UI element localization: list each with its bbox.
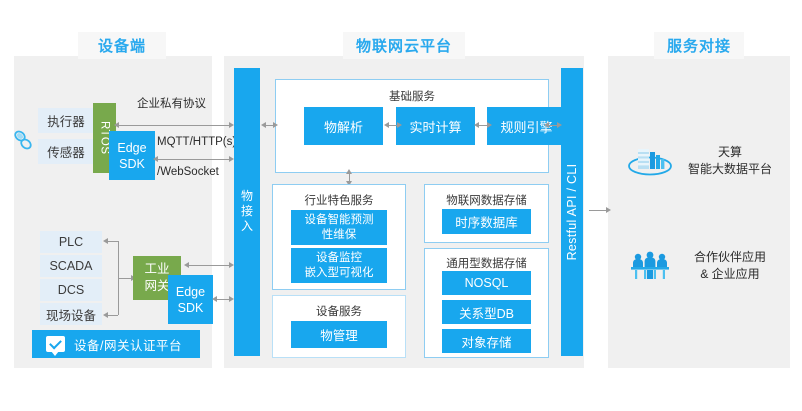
architecture-diagram: 设备端 物联网云平台 服务对接 执行器 传感器 RTOS Edge SDK 企业…	[0, 0, 802, 411]
check-bubble-icon	[46, 336, 65, 352]
gateway-label-line2: 网关	[144, 278, 169, 295]
arrow-head-connector-up	[346, 169, 352, 174]
arrow-head-private-left	[114, 122, 119, 128]
basic-service-item-realtime-compute[interactable]: 实时计算	[396, 107, 475, 145]
edge-sdk-top[interactable]: Edge SDK	[109, 131, 155, 180]
iot-storage-title: 物联网数据存储	[425, 192, 548, 208]
iot-storage-card: 物联网数据存储 时序数据库	[424, 184, 549, 243]
ingress-bar-label: 物接入	[239, 190, 256, 235]
arrow-head-basic-a-l	[261, 122, 266, 128]
partner-line2: & 企业应用	[674, 266, 786, 283]
protocol-label-private: 企业私有协议	[137, 95, 206, 111]
edge-sdk-top-line1: Edge	[117, 140, 146, 156]
arrow-line-mqtt	[158, 159, 229, 160]
device-gateway-auth-platform-bar[interactable]: 设备/网关认证平台	[32, 330, 200, 358]
industry-item-2-line2: 嵌入型可视化	[305, 266, 374, 281]
general-storage-item-nosql[interactable]: NOSQL	[442, 271, 531, 295]
auth-platform-label: 设备/网关认证平台	[74, 335, 182, 354]
industry-service-item-device-monitoring[interactable]: 设备监控 嵌入型可视化	[291, 248, 387, 283]
arrow-head-basic-a-r	[273, 122, 278, 128]
industry-service-card: 行业特色服务 设备智能预测 性维保 设备监控 嵌入型可视化	[272, 184, 406, 290]
device-endpoint-actuator[interactable]: 执行器	[38, 108, 94, 133]
basic-service-item-rule-engine[interactable]: 规则引擎	[487, 107, 566, 145]
service-item-partner-text: 合作伙伴应用 & 企业应用	[674, 249, 786, 283]
service-item-bigdata-text: 天算 智能大数据平台	[674, 144, 786, 178]
partner-people-icon	[626, 246, 674, 286]
iot-storage-item-tsdb[interactable]: 时序数据库	[442, 209, 531, 234]
arrow-head-basic-c-l	[474, 122, 479, 128]
industry-item-1-line2: 性维保	[322, 228, 357, 243]
partner-line1: 合作伙伴应用	[674, 249, 786, 266]
service-item-partner-apps[interactable]: 合作伙伴应用 & 企业应用	[626, 243, 786, 289]
arrow-head-plc	[103, 238, 108, 244]
basic-service-title: 基础服务	[276, 88, 548, 104]
arrow-head-field-device	[103, 312, 108, 318]
bigdata-line1: 天算	[674, 144, 786, 161]
industrial-chip-dcs[interactable]: DCS	[40, 279, 102, 301]
arrow-head-basic-b-r	[397, 122, 402, 128]
edge-sdk-bottom-line1: Edge	[176, 284, 205, 300]
industrial-chip-plc[interactable]: PLC	[40, 231, 102, 253]
device-service-title: 设备服务	[273, 303, 405, 319]
service-item-bigdata[interactable]: 天算 智能大数据平台	[626, 138, 786, 184]
arrow-head-basic-d-r	[557, 122, 562, 128]
basic-service-card: 基础服务 物解析 实时计算 规则引擎	[275, 79, 549, 173]
panel-service-side	[608, 56, 790, 368]
device-service-card: 设备服务 物管理	[272, 295, 406, 358]
panel-title-cloud-platform: 物联网云平台	[343, 32, 465, 59]
general-storage-title: 通用型数据存储	[425, 255, 548, 271]
basic-service-item-parse[interactable]: 物解析	[304, 107, 383, 145]
ingress-bar-thing-access[interactable]: 物接入	[234, 68, 260, 356]
general-storage-item-rdb[interactable]: 关系型DB	[442, 300, 531, 324]
protocol-label-mqtt-line1: MQTT/HTTP(s)	[157, 136, 236, 148]
industry-item-1-line1: 设备智能预测	[305, 213, 374, 228]
general-storage-card: 通用型数据存储 NOSQL 关系型DB 对象存储	[424, 248, 549, 358]
industry-service-title: 行业特色服务	[273, 192, 405, 208]
cloud-link-icon	[10, 126, 36, 154]
panel-title-device-side: 设备端	[78, 32, 166, 59]
industry-item-2-line1: 设备监控	[316, 251, 362, 266]
arrow-line-gateway-lower	[217, 299, 229, 300]
arrow-head-basic-b-l	[384, 122, 389, 128]
device-service-item-thing-management[interactable]: 物管理	[291, 321, 387, 348]
bigdata-cloud-icon	[626, 141, 674, 181]
bracket-branch-plc	[107, 241, 118, 242]
arrow-head-platform-to-service	[606, 207, 611, 213]
edge-sdk-bottom-line2: SDK	[178, 300, 204, 316]
industrial-chip-scada[interactable]: SCADA	[40, 255, 102, 277]
arrow-line-platform-to-service	[589, 210, 607, 211]
general-storage-item-object-storage[interactable]: 对象存储	[442, 329, 531, 353]
panel-title-service-side: 服务对接	[654, 32, 744, 59]
protocol-label-mqtt-line2: /WebSocket	[157, 166, 219, 178]
bracket-to-gateway	[118, 278, 132, 279]
gateway-label-line1: 工业	[144, 261, 169, 278]
edge-sdk-bottom[interactable]: Edge SDK	[168, 275, 213, 324]
arrow-head-basic-d-l	[544, 122, 549, 128]
arrow-head-basic-c-r	[487, 122, 492, 128]
bracket-branch-field-device	[107, 315, 118, 316]
arrow-line-gateway-upper	[189, 265, 229, 266]
edge-sdk-top-line2: SDK	[119, 156, 145, 172]
industrial-chip-field-device[interactable]: 现场设备	[40, 303, 102, 325]
arrow-head-gateway-lower-left	[212, 296, 217, 302]
bigdata-line2: 智能大数据平台	[674, 161, 786, 178]
arrow-head-gateway-upper-left	[184, 262, 189, 268]
egress-bar-label: Restful API / CLI	[565, 164, 579, 261]
industry-service-item-predictive-maintenance[interactable]: 设备智能预测 性维保	[291, 210, 387, 245]
device-endpoint-sensor[interactable]: 传感器	[38, 139, 94, 164]
arrow-head-mqtt-left	[153, 156, 158, 162]
arrow-line-private-protocol	[119, 125, 229, 126]
